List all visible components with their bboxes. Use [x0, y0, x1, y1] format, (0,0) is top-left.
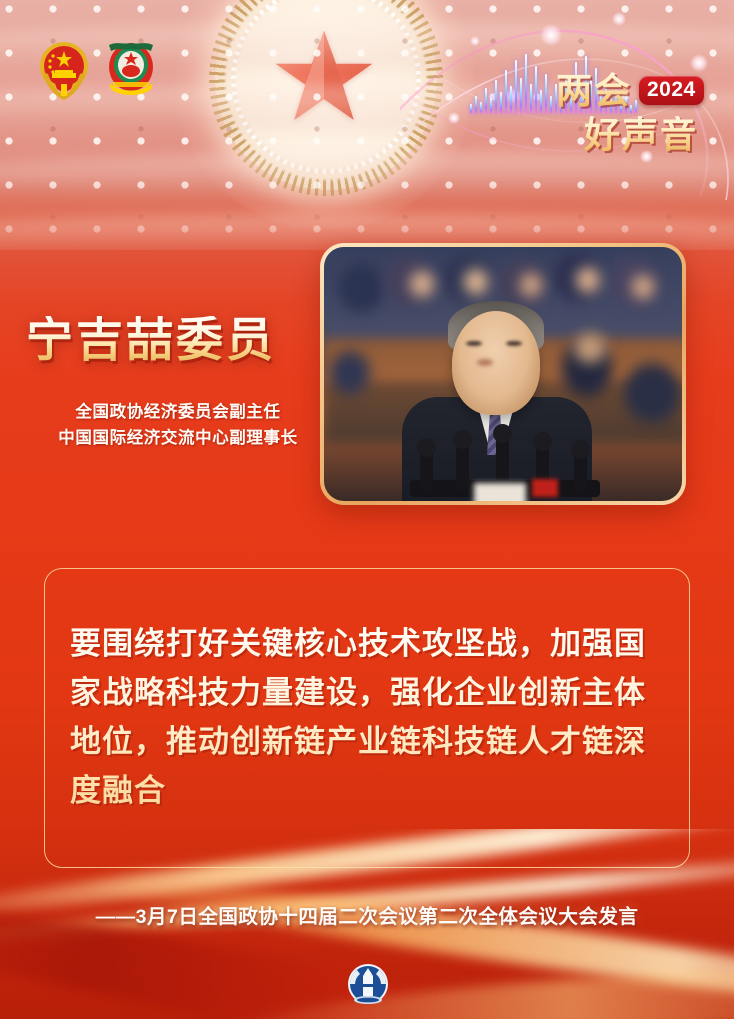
- speaker-photo: [324, 247, 682, 501]
- media-logo-icon: [346, 962, 390, 1008]
- microphone: [456, 439, 469, 491]
- speaker-titles: 全国政协经济委员会副主任 中国国际经济交流中心副理事长: [28, 400, 328, 451]
- microphone: [574, 449, 587, 491]
- caption: ——3月7日全国政协十四届二次会议第二次全体会议大会发言: [0, 900, 734, 929]
- speaker-photo-frame: [320, 243, 686, 505]
- speaker-title-2: 中国国际经济交流中心副理事长: [28, 426, 328, 452]
- quote-text: 要围绕打好关键核心技术攻坚战，加强国家战略科技力量建设，强化企业创新主体地位，推…: [70, 620, 670, 816]
- poster-root: 两会 2024 好声音 宁吉喆委员 全国政协经济委员会副主任 中国国际经济交流中…: [0, 0, 734, 1019]
- logo-line-2: 好声音: [584, 106, 698, 158]
- national-emblem-of-china-icon: [36, 40, 92, 102]
- cppcc-emblem-icon: [105, 39, 157, 99]
- program-logo: 两会 2024 好声音: [556, 62, 716, 150]
- speaker-title-1: 全国政协经济委员会副主任: [28, 400, 328, 426]
- speaker-face: [452, 311, 540, 415]
- speaker-name: 宁吉喆委员: [26, 316, 276, 363]
- microphone: [420, 447, 433, 491]
- logo-year-badge: 2024: [639, 76, 704, 105]
